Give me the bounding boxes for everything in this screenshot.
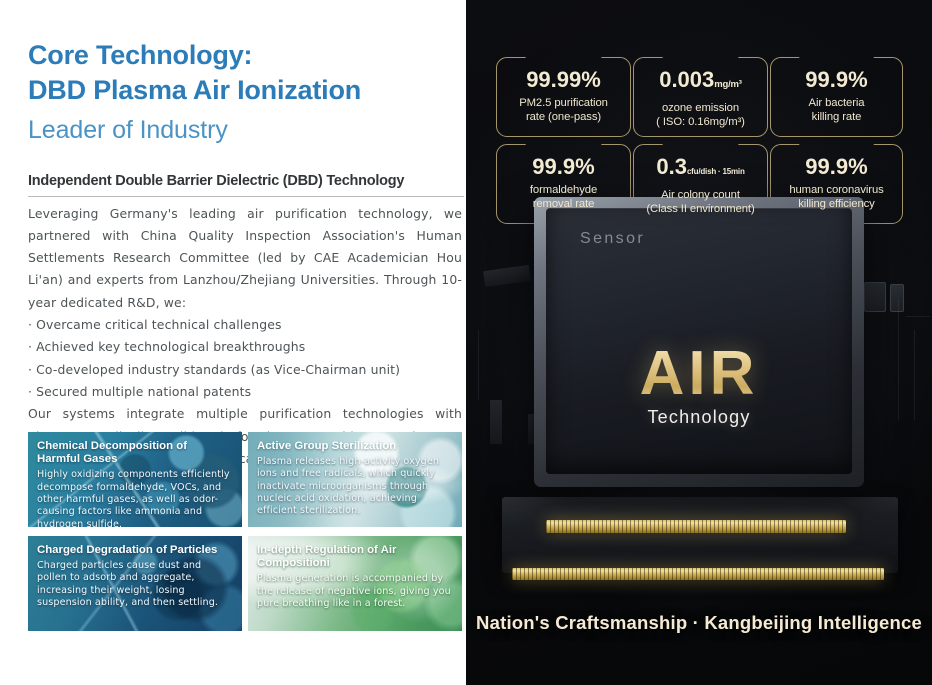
chip-air-label: AIR — [546, 338, 852, 409]
stat-value: 0.003mg/m³ — [639, 67, 762, 97]
page-title-line2: DBD Plasma Air Ionization — [28, 73, 444, 108]
gold-contact-strip-upper-icon — [546, 520, 846, 533]
card-body: Plasma generation is accompanied by the … — [257, 573, 453, 610]
stat-label: ozone emission ( ISO: 0.16mg/m³) — [639, 101, 762, 129]
feature-card-active-group-sterilization[interactable]: Active Group Sterilization Plasma releas… — [248, 432, 462, 527]
feature-card-charged-degradation[interactable]: Charged Degradation of Particles Charged… — [28, 536, 242, 631]
gold-contact-strip-lower-icon — [512, 568, 884, 580]
card-title: Active Group Sterilization — [257, 440, 453, 453]
page-title-line1: Core Technology: — [28, 40, 252, 70]
stat-value: 99.9% — [776, 154, 897, 179]
intro-paragraph: Leveraging Germany's leading air purific… — [28, 203, 462, 314]
stat-label: formaldehyde removal rate — [502, 183, 625, 211]
chip-face: Sensor AIR Technology — [546, 208, 852, 474]
stat-ozone-emission: 0.003mg/m³ ozone emission ( ISO: 0.16mg/… — [633, 57, 768, 137]
achievements-list: Overcame critical technical challenges A… — [28, 314, 444, 403]
chip-sensor-label: Sensor — [580, 230, 645, 248]
list-item: Achieved key technological breakthroughs — [28, 336, 444, 358]
list-item: Secured multiple national patents — [28, 381, 444, 403]
stat-value: 0.3cfu/dish · 15min — [639, 154, 762, 184]
performance-stat-grid: 99.99% PM2.5 purification rate (one-pass… — [496, 57, 904, 224]
card-body: Highly oxidizing components efficiently … — [37, 469, 233, 527]
right-visual-panel: 99.99% PM2.5 purification rate (one-pass… — [466, 0, 932, 685]
card-title: Chemical Decomposition of Harmful Gases — [37, 440, 233, 467]
left-content-panel: Core Technology: DBD Plasma Air Ionizati… — [0, 0, 466, 685]
ic-chip-icon — [890, 284, 904, 312]
list-item: Co-developed industry standards (as Vice… — [28, 359, 444, 381]
stat-value: 99.9% — [502, 154, 625, 179]
feature-card-air-composition-regulation[interactable]: In-depth Regulation of Air Compositioni … — [248, 536, 462, 631]
pcb-trace-icon — [898, 300, 899, 420]
chip-technology-label: Technology — [546, 407, 852, 428]
chip-socket-ledge — [502, 497, 898, 573]
stat-label: Air colony count (Class II environment) — [639, 188, 762, 216]
feature-card-grid: Chemical Decomposition of Harmful Gases … — [28, 432, 462, 631]
stat-value: 99.99% — [502, 67, 625, 92]
stat-air-bacteria-killing: 99.9% Air bacteria killing rate — [770, 57, 903, 137]
stat-unit: mg/m³ — [714, 79, 742, 90]
pcb-trace-icon — [478, 330, 479, 400]
pcb-trace-icon — [906, 316, 930, 317]
stat-label: human coronavirus killing efficiency — [776, 183, 897, 211]
stat-air-colony-count: 0.3cfu/dish · 15min Air colony count (Cl… — [633, 144, 768, 224]
ic-chip-icon — [864, 282, 886, 312]
card-body: Charged particles cause dust and pollen … — [37, 560, 233, 609]
smd-component-icon — [490, 400, 502, 444]
card-body: Plasma releases high-activity oxygen ion… — [257, 456, 453, 517]
page-title: Core Technology: DBD Plasma Air Ionizati… — [28, 38, 444, 107]
feature-card-chemical-decomposition[interactable]: Chemical Decomposition of Harmful Gases … — [28, 432, 242, 527]
stat-label: Air bacteria killing rate — [776, 96, 897, 124]
card-title: Charged Degradation of Particles — [37, 544, 233, 557]
title-block: Core Technology: DBD Plasma Air Ionizati… — [28, 38, 444, 147]
brand-tagline: Nation's Craftsmanship · Kangbeijing Int… — [466, 612, 932, 634]
heading-divider — [28, 196, 464, 197]
page-subtitle: Leader of Industry — [28, 114, 444, 147]
stat-unit: cfu/dish · 15min — [687, 167, 745, 176]
stat-pm25-purification: 99.99% PM2.5 purification rate (one-pass… — [496, 57, 631, 137]
pcb-trace-icon — [914, 330, 915, 420]
list-item: Overcame critical technical challenges — [28, 314, 444, 336]
air-sensor-chip-package: Sensor AIR Technology — [534, 197, 864, 487]
stat-value: 99.9% — [776, 67, 897, 92]
card-title: In-depth Regulation of Air Compositioni — [257, 544, 453, 571]
stat-label: PM2.5 purification rate (one-pass) — [502, 96, 625, 124]
slide-root: Core Technology: DBD Plasma Air Ionizati… — [0, 0, 932, 685]
section-heading: Independent Double Barrier Dielectric (D… — [28, 173, 444, 189]
